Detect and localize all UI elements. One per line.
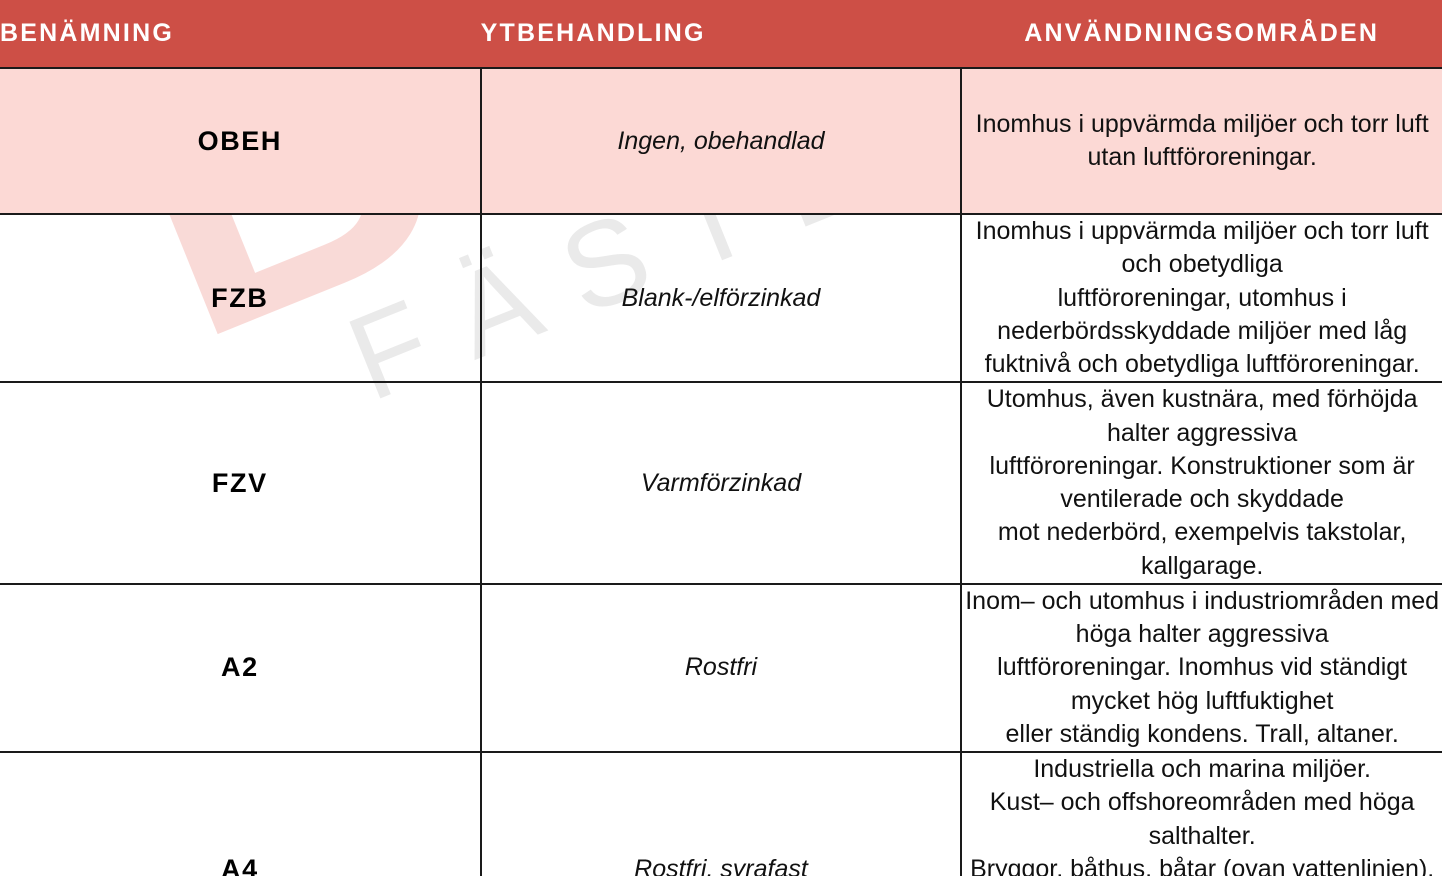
table-row: OBEHIngen, obehandladInomhus i uppvärmda… [0,68,1442,214]
table-row: FZBBlank-/elförzinkadInomhus i uppvärmda… [0,214,1442,382]
cell-usage-areas: Utomhus, även kustnära, med förhöjda hal… [961,382,1442,584]
usage-line: luftföroreningar. Inomhus vid ständigt m… [962,651,1442,718]
column-header-surface: YTBEHANDLING [481,0,962,68]
table-header: BENÄMNING YTBEHANDLING ANVÄNDNINGSOMRÅDE… [0,0,1442,68]
usage-line: Industriella och marina miljöer. [962,753,1442,786]
usage-line: mot nederbörd, exempelvis takstolar, kal… [962,516,1442,583]
usage-line: eller ständig kondens. Trall, altaner. [962,718,1442,751]
usage-line: luftföroreningar, utomhus i nederbördssk… [962,282,1442,349]
cell-code: FZB [0,214,481,382]
usage-line: fuktnivå och obetydliga luftföroreningar… [962,348,1442,381]
table-row: A4Rostfri, syrafastIndustriella och mari… [0,752,1442,876]
usage-line: Kust– och offshoreområden med höga salth… [962,786,1442,853]
cell-surface-treatment: Rostfri, syrafast [481,752,962,876]
cell-code: FZV [0,382,481,584]
surface-treatment-table-page: BULTAB FÄSTELEMENT BENÄMNING YTBEHANDLIN… [0,0,1442,876]
cell-usage-areas: Industriella och marina miljöer.Kust– oc… [961,752,1442,876]
column-header-code: BENÄMNING [0,0,481,68]
usage-line: Inom– och utomhus i industriområden med … [962,585,1442,652]
cell-surface-treatment: Ingen, obehandlad [481,68,962,214]
usage-line: luftföroreningar. Konstruktioner som är … [962,450,1442,517]
table-container: BENÄMNING YTBEHANDLING ANVÄNDNINGSOMRÅDE… [0,0,1442,876]
table-row: A2RostfriInom– och utomhus i industriomr… [0,584,1442,752]
cell-surface-treatment: Rostfri [481,584,962,752]
cell-code: A2 [0,584,481,752]
cell-surface-treatment: Blank-/elförzinkad [481,214,962,382]
cell-usage-areas: Inom– och utomhus i industriområden med … [961,584,1442,752]
column-header-usage: ANVÄNDNINGSOMRÅDEN [961,0,1442,68]
cell-usage-areas: Inomhus i uppvärmda miljöer och torr luf… [961,214,1442,382]
usage-line: Bryggor, båthus, båtar (ovan vattenlinje… [962,853,1442,876]
usage-line: Inomhus i uppvärmda miljöer och torr luf… [962,215,1442,282]
usage-line: Inomhus i uppvärmda miljöer och torr luf… [962,108,1442,175]
usage-line: Utomhus, även kustnära, med förhöjda hal… [962,383,1442,450]
table-header-row: BENÄMNING YTBEHANDLING ANVÄNDNINGSOMRÅDE… [0,0,1442,68]
surface-treatment-table: BENÄMNING YTBEHANDLING ANVÄNDNINGSOMRÅDE… [0,0,1442,876]
table-body: OBEHIngen, obehandladInomhus i uppvärmda… [0,68,1442,876]
cell-code: OBEH [0,68,481,214]
cell-usage-areas: Inomhus i uppvärmda miljöer och torr luf… [961,68,1442,214]
cell-surface-treatment: Varmförzinkad [481,382,962,584]
cell-code: A4 [0,752,481,876]
table-row: FZVVarmförzinkadUtomhus, även kustnära, … [0,382,1442,584]
